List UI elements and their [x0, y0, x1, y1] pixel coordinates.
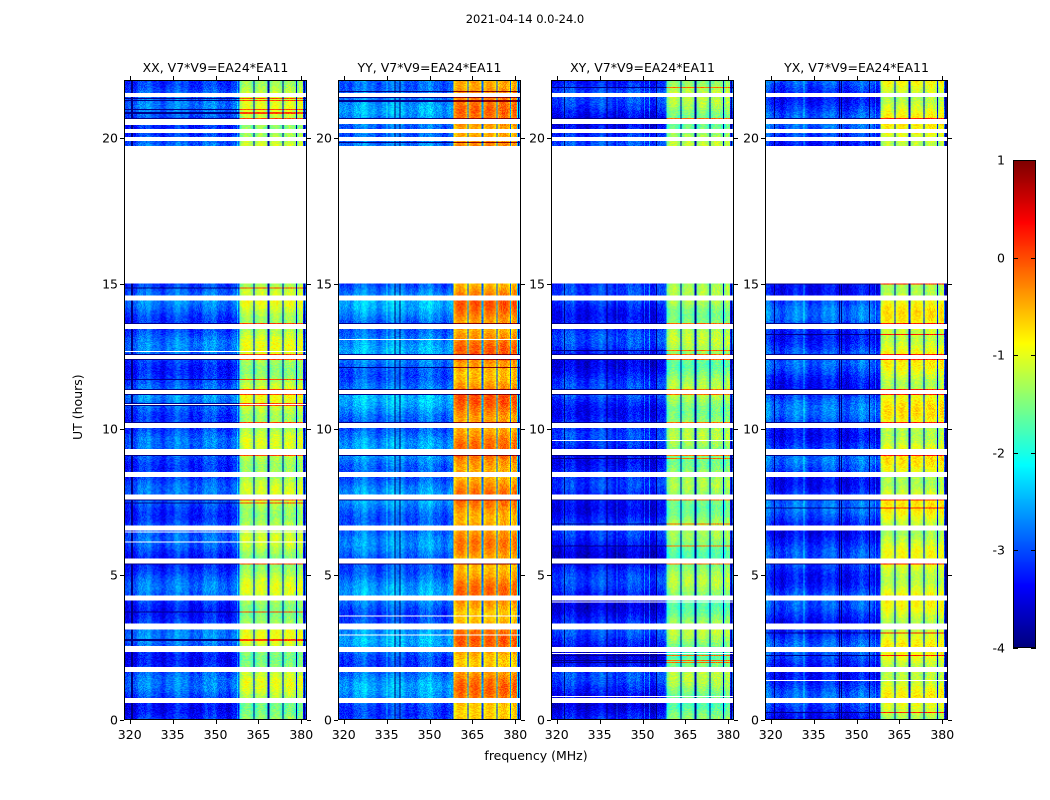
- colorbar-tick-label: 1: [997, 153, 1005, 168]
- colorbar-tick-label: -3: [993, 543, 1005, 558]
- axes-yx[interactable]: [765, 80, 948, 720]
- y-tick-mark: [948, 720, 952, 721]
- colorbar-tick-mark: [1013, 160, 1018, 161]
- x-tick-label: 350: [631, 727, 655, 742]
- y-tick-label: 5: [324, 567, 332, 582]
- y-tick-mark: [948, 284, 952, 285]
- colorbar-tick-mark: [1013, 453, 1018, 454]
- colorbar-tick-label: 0: [997, 250, 1005, 265]
- y-tick-label: 20: [743, 131, 759, 146]
- x-tick-mark: [643, 720, 644, 724]
- x-tick-label: 320: [759, 727, 783, 742]
- colorbar-tick-mark: [1031, 550, 1036, 551]
- x-tick-mark: [216, 76, 217, 80]
- x-tick-mark: [771, 720, 772, 724]
- x-tick-mark: [899, 76, 900, 80]
- y-tick-label: 5: [751, 567, 759, 582]
- x-tick-mark: [942, 76, 943, 80]
- y-tick-mark: [547, 429, 551, 430]
- x-tick-mark: [258, 76, 259, 80]
- y-tick-mark: [334, 138, 338, 139]
- x-tick-mark: [344, 76, 345, 80]
- colorbar-tick-label: -1: [993, 348, 1005, 363]
- y-tick-label: 0: [324, 713, 332, 728]
- x-tick-mark: [728, 720, 729, 724]
- y-tick-mark: [521, 138, 525, 139]
- x-tick-mark: [472, 720, 473, 724]
- colorbar[interactable]: [1013, 160, 1036, 648]
- x-tick-label: 335: [161, 727, 185, 742]
- x-tick-mark: [130, 720, 131, 724]
- x-tick-mark: [258, 720, 259, 724]
- y-tick-mark: [334, 720, 338, 721]
- x-tick-mark: [685, 720, 686, 724]
- colorbar-tick-mark: [1013, 258, 1018, 259]
- y-tick-label: 10: [529, 422, 545, 437]
- colorbar-tick-label: -2: [993, 445, 1005, 460]
- y-tick-label: 20: [102, 131, 118, 146]
- y-tick-mark: [521, 429, 525, 430]
- y-tick-label: 15: [529, 276, 545, 291]
- x-tick-label: 380: [930, 727, 954, 742]
- x-tick-mark: [728, 76, 729, 80]
- x-tick-label: 335: [588, 727, 612, 742]
- x-tick-label: 350: [845, 727, 869, 742]
- x-tick-mark: [387, 76, 388, 80]
- colorbar-tick-label: -4: [993, 641, 1005, 656]
- dynamic-spectrum-xy: [552, 81, 733, 719]
- x-tick-mark: [173, 720, 174, 724]
- y-tick-mark: [120, 284, 124, 285]
- x-tick-mark: [600, 720, 601, 724]
- panel-title-xx: XX, V7*V9=EA24*EA11: [124, 60, 307, 75]
- panel-xx: XX, V7*V9=EA24*EA11051015203203353503653…: [124, 80, 307, 720]
- y-tick-mark: [521, 575, 525, 576]
- x-tick-mark: [643, 76, 644, 80]
- axes-xy[interactable]: [551, 80, 734, 720]
- x-tick-label: 380: [289, 727, 313, 742]
- figure-canvas: 2021-04-14 0.0-24.0 XX, V7*V9=EA24*EA110…: [0, 0, 1050, 800]
- axes-yy[interactable]: [338, 80, 521, 720]
- y-tick-mark: [948, 575, 952, 576]
- x-tick-mark: [301, 76, 302, 80]
- x-tick-mark: [301, 720, 302, 724]
- x-tick-label: 380: [503, 727, 527, 742]
- y-tick-mark: [761, 429, 765, 430]
- x-tick-mark: [857, 76, 858, 80]
- x-tick-mark: [557, 720, 558, 724]
- y-tick-label: 20: [316, 131, 332, 146]
- y-tick-mark: [547, 720, 551, 721]
- y-tick-label: 5: [110, 567, 118, 582]
- y-tick-mark: [521, 284, 525, 285]
- x-tick-label: 365: [460, 727, 484, 742]
- x-tick-label: 320: [118, 727, 142, 742]
- y-tick-mark: [334, 284, 338, 285]
- y-tick-mark: [948, 429, 952, 430]
- y-tick-label: 10: [316, 422, 332, 437]
- panel-yy: YY, V7*V9=EA24*EA11051015203203353503653…: [338, 80, 521, 720]
- x-tick-mark: [515, 720, 516, 724]
- y-tick-mark: [334, 429, 338, 430]
- y-tick-label: 0: [110, 713, 118, 728]
- y-tick-mark: [307, 138, 311, 139]
- x-tick-label: 365: [673, 727, 697, 742]
- y-tick-mark: [521, 720, 525, 721]
- y-tick-label: 10: [743, 422, 759, 437]
- y-tick-mark: [307, 575, 311, 576]
- x-tick-mark: [600, 76, 601, 80]
- colorbar-tick-mark: [1031, 258, 1036, 259]
- x-tick-label: 350: [204, 727, 228, 742]
- y-tick-label: 20: [529, 131, 545, 146]
- colorbar-gradient: [1014, 161, 1035, 647]
- y-tick-mark: [120, 720, 124, 721]
- y-axis-label: UT (hours): [70, 374, 85, 440]
- x-tick-label: 335: [802, 727, 826, 742]
- x-tick-mark: [472, 76, 473, 80]
- x-tick-mark: [344, 720, 345, 724]
- colorbar-tick-mark: [1013, 355, 1018, 356]
- x-tick-mark: [173, 76, 174, 80]
- x-tick-mark: [814, 720, 815, 724]
- y-tick-label: 0: [751, 713, 759, 728]
- x-tick-mark: [899, 720, 900, 724]
- y-tick-mark: [120, 429, 124, 430]
- x-tick-mark: [557, 76, 558, 80]
- y-tick-mark: [120, 138, 124, 139]
- y-tick-mark: [734, 720, 738, 721]
- colorbar-tick-mark: [1013, 648, 1018, 649]
- x-tick-label: 320: [545, 727, 569, 742]
- panel-title-yx: YX, V7*V9=EA24*EA11: [765, 60, 948, 75]
- x-tick-mark: [430, 76, 431, 80]
- y-tick-mark: [761, 284, 765, 285]
- y-tick-mark: [761, 575, 765, 576]
- panel-yx: YX, V7*V9=EA24*EA11051015203203353503653…: [765, 80, 948, 720]
- panel-xy: XY, V7*V9=EA24*EA11051015203203353503653…: [551, 80, 734, 720]
- y-tick-mark: [547, 284, 551, 285]
- x-axis-label: frequency (MHz): [484, 748, 587, 763]
- y-tick-mark: [547, 138, 551, 139]
- colorbar-tick-mark: [1031, 453, 1036, 454]
- colorbar-tick-mark: [1031, 160, 1036, 161]
- x-tick-mark: [685, 76, 686, 80]
- x-tick-label: 380: [716, 727, 740, 742]
- axes-xx[interactable]: [124, 80, 307, 720]
- x-tick-label: 365: [887, 727, 911, 742]
- x-tick-label: 335: [375, 727, 399, 742]
- x-tick-label: 350: [418, 727, 442, 742]
- figure-suptitle: 2021-04-14 0.0-24.0: [0, 12, 1050, 26]
- colorbar-tick-mark: [1031, 648, 1036, 649]
- y-tick-mark: [334, 575, 338, 576]
- x-tick-mark: [387, 720, 388, 724]
- y-tick-mark: [547, 575, 551, 576]
- panel-title-yy: YY, V7*V9=EA24*EA11: [338, 60, 521, 75]
- x-tick-mark: [814, 76, 815, 80]
- y-tick-mark: [307, 720, 311, 721]
- x-tick-mark: [942, 720, 943, 724]
- y-tick-mark: [734, 429, 738, 430]
- panel-title-xy: XY, V7*V9=EA24*EA11: [551, 60, 734, 75]
- y-tick-mark: [307, 429, 311, 430]
- y-tick-mark: [734, 575, 738, 576]
- y-tick-mark: [120, 575, 124, 576]
- y-tick-mark: [761, 138, 765, 139]
- y-tick-label: 15: [743, 276, 759, 291]
- y-tick-mark: [734, 138, 738, 139]
- x-tick-label: 320: [332, 727, 356, 742]
- colorbar-tick-mark: [1031, 355, 1036, 356]
- dynamic-spectrum-yx: [766, 81, 947, 719]
- y-tick-label: 15: [316, 276, 332, 291]
- x-tick-label: 365: [246, 727, 270, 742]
- x-tick-mark: [771, 76, 772, 80]
- x-tick-mark: [130, 76, 131, 80]
- y-tick-mark: [307, 284, 311, 285]
- y-tick-label: 0: [537, 713, 545, 728]
- y-tick-mark: [761, 720, 765, 721]
- y-tick-label: 15: [102, 276, 118, 291]
- x-tick-mark: [430, 720, 431, 724]
- y-tick-label: 5: [537, 567, 545, 582]
- x-tick-mark: [216, 720, 217, 724]
- y-tick-mark: [948, 138, 952, 139]
- dynamic-spectrum-yy: [339, 81, 520, 719]
- x-tick-mark: [515, 76, 516, 80]
- y-tick-label: 10: [102, 422, 118, 437]
- dynamic-spectrum-xx: [125, 81, 306, 719]
- x-tick-mark: [857, 720, 858, 724]
- colorbar-tick-mark: [1013, 550, 1018, 551]
- y-tick-mark: [734, 284, 738, 285]
